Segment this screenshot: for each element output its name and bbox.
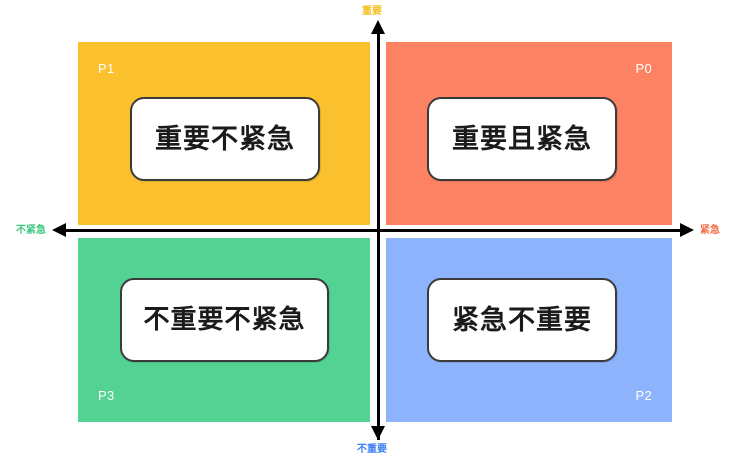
- eisenhower-matrix-diagram: P1 P0 P3 P2 重要不紧急 重要且紧急 不重要不紧急 紧急不重要 重要 …: [0, 0, 734, 470]
- arrow-down-icon: [371, 426, 385, 440]
- quadrant-p2-priority-tag: P2: [635, 389, 652, 402]
- arrow-left-icon: [52, 223, 66, 237]
- callout-label-p1: 重要不紧急: [155, 126, 295, 153]
- quadrant-p3-priority-tag: P3: [98, 389, 115, 402]
- callout-label-p3: 不重要不紧急: [143, 307, 305, 333]
- axis-label-urgent: 紧急: [700, 226, 720, 236]
- callout-label-p0: 重要且紧急: [452, 126, 592, 153]
- quadrant-p1-priority-tag: P1: [98, 62, 115, 75]
- callout-label-p2: 紧急不重要: [452, 307, 592, 334]
- horizontal-axis-line: [62, 229, 682, 232]
- callout-box-p0: 重要且紧急: [427, 97, 617, 181]
- callout-box-p3: 不重要不紧急: [120, 278, 329, 362]
- arrow-up-icon: [371, 20, 385, 34]
- axis-label-not-important: 不重要: [357, 445, 387, 455]
- arrow-right-icon: [680, 223, 694, 237]
- callout-box-p1: 重要不紧急: [130, 97, 320, 181]
- axis-label-not-urgent: 不紧急: [16, 226, 46, 236]
- callout-box-p2: 紧急不重要: [427, 278, 617, 362]
- quadrant-p0-priority-tag: P0: [635, 62, 652, 75]
- axis-label-important: 重要: [362, 7, 382, 17]
- vertical-axis-line: [377, 30, 380, 440]
